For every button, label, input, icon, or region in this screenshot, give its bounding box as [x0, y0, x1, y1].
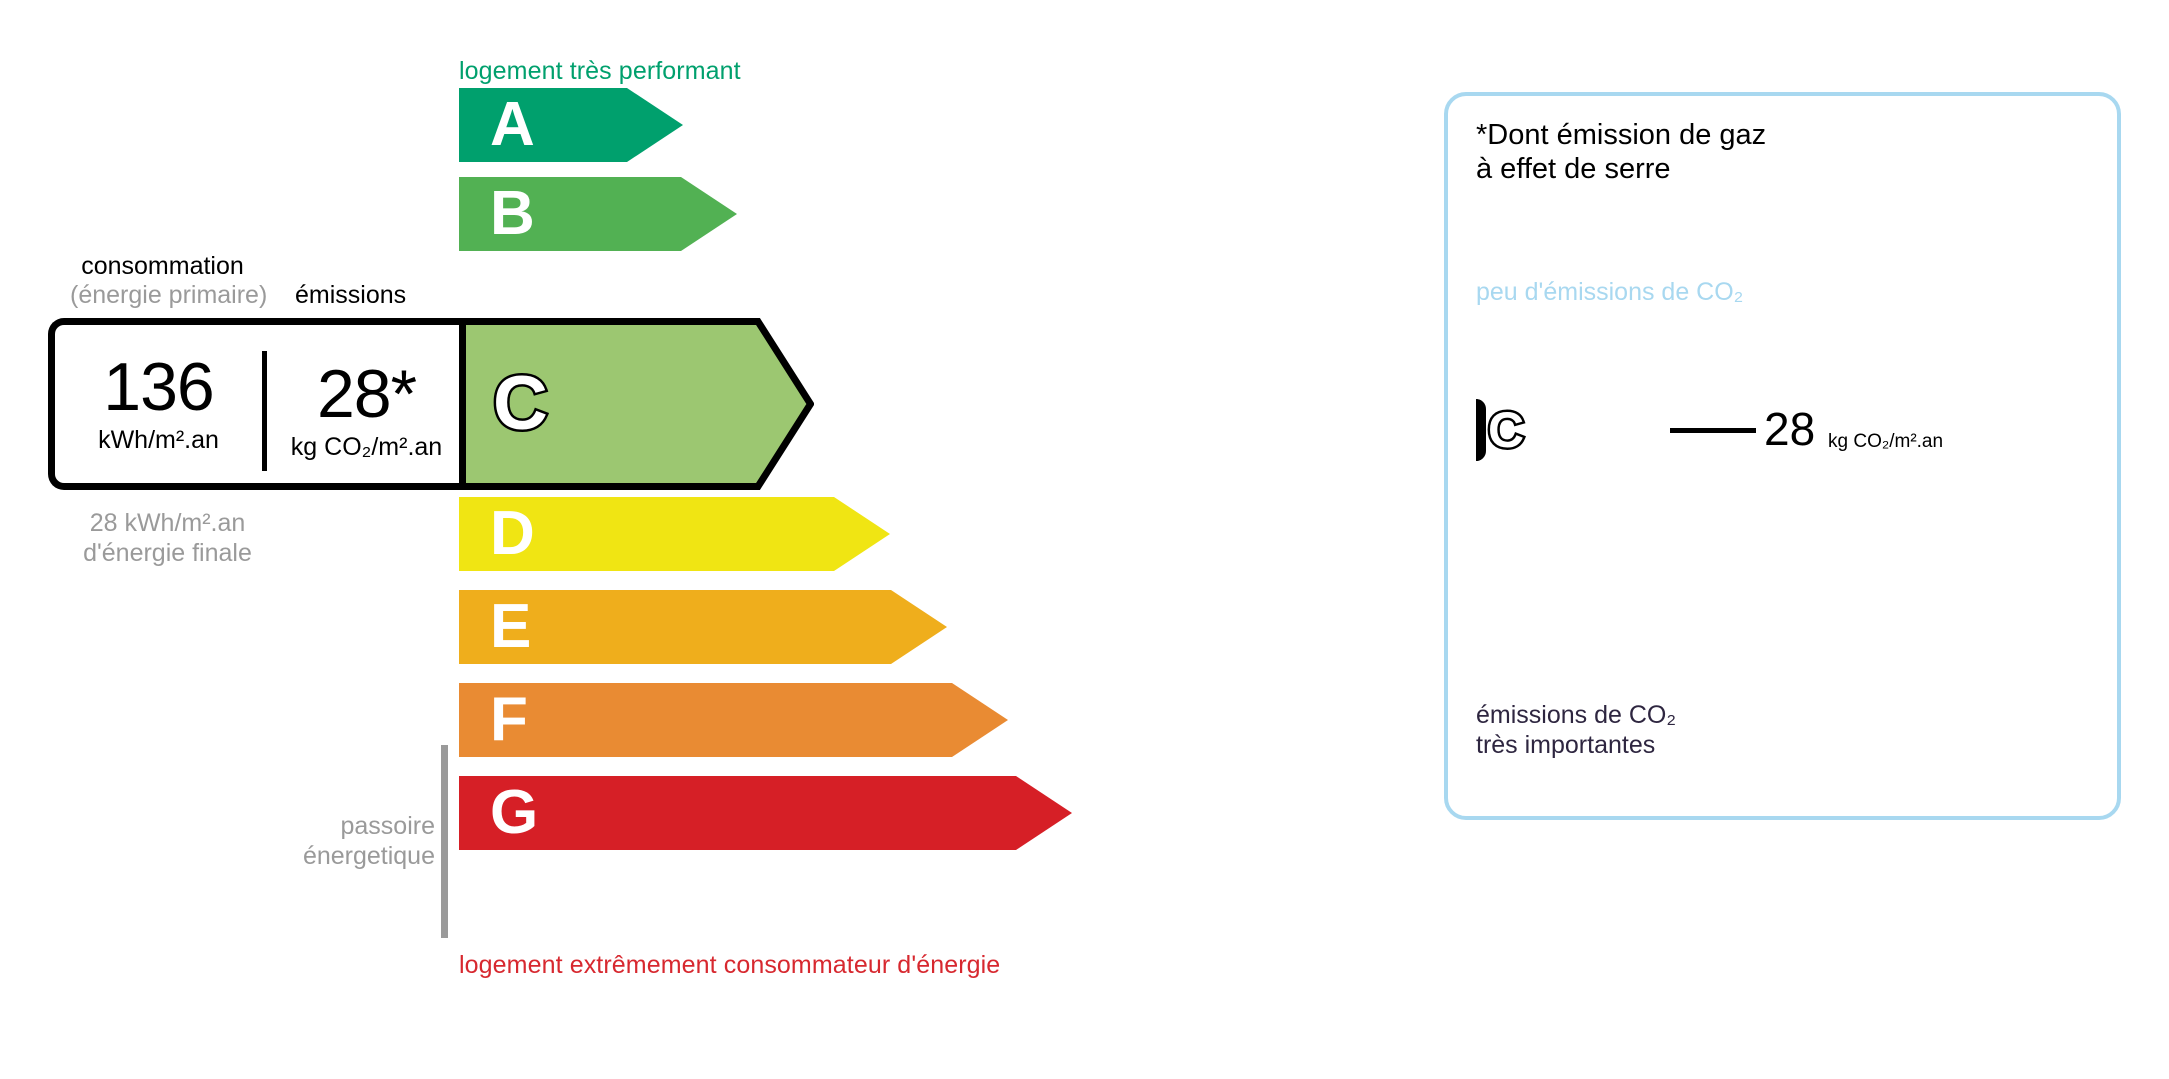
co2-bar-g: G — [1476, 617, 1812, 652]
co2-callout-unit: kg CO₂/m².an — [1828, 432, 1943, 451]
co2-bar-d: D — [1476, 473, 1695, 508]
co2-callout-line — [1670, 428, 1756, 433]
co2-panel-title-line1: *Dont émission de gaz — [1476, 119, 1766, 151]
energy-performance-scale: logement très performant ABCDEFG logemen… — [0, 0, 1400, 1079]
co2-bar-a: A — [1476, 307, 1583, 342]
co2-bar-letter-e: E — [1485, 524, 1505, 554]
energy-bar-g: G — [459, 776, 1072, 850]
energy-bar-shape-g — [459, 776, 1072, 850]
co2-value-cell: 28* kg CO₂/m².an — [262, 351, 466, 471]
energy-unit: kWh/m².an — [98, 426, 219, 455]
scale-caption-top: logement très performant — [459, 57, 741, 86]
passoire-bracket — [441, 745, 448, 938]
energy-bar-shape-f — [459, 683, 1008, 757]
passoire-energetique-label: passoire énergetique — [245, 811, 435, 871]
co2-bar-letter-g: G — [1485, 620, 1508, 650]
energy-bar-e: E — [459, 590, 947, 664]
co2-bar-shape-c — [1476, 399, 1486, 461]
co2-bar-c: C — [1476, 399, 1656, 461]
co2-bar-letter-f: F — [1485, 572, 1503, 602]
final-energy-note: 28 kWh/m².an d'énergie finale — [70, 508, 265, 568]
co2-panel-title-line2: à effet de serre — [1476, 153, 1671, 185]
energy-bar-shape-e — [459, 590, 947, 664]
co2-caption-top: peu d'émissions de CO₂ — [1476, 278, 1743, 307]
co2-value: 28* — [317, 360, 416, 429]
consumption-header-main: consommation — [81, 252, 244, 280]
co2-bar-letter-d: D — [1485, 476, 1507, 506]
energy-value: 136 — [103, 353, 213, 422]
energy-value-cell: 136 kWh/m².an — [55, 325, 262, 483]
passoire-label-line1: passoire — [341, 812, 436, 840]
co2-caption-bottom: émissions de CO₂ très importantes — [1476, 700, 1676, 760]
co2-caption-bottom-line1: émissions de CO₂ — [1476, 701, 1676, 729]
selected-value-frame: 136 kWh/m².an 28* kg CO₂/m².an — [48, 318, 459, 490]
energy-bar-f: F — [459, 683, 1008, 757]
final-energy-note-line2: d'énergie finale — [83, 539, 252, 567]
co2-bar-f: F — [1476, 569, 1773, 604]
co2-panel-title: *Dont émission de gaz à effet de serre — [1476, 118, 1766, 186]
co2-bar-letter-a: A — [1485, 310, 1507, 340]
energy-bar-shape-d — [459, 497, 890, 571]
passoire-label-line2: énergetique — [303, 842, 435, 870]
energy-bar-shape-b — [459, 177, 737, 251]
co2-bar-letter-c: C — [1488, 405, 1524, 455]
final-energy-note-line1: 28 kWh/m².an — [90, 509, 246, 537]
energy-bar-d: D — [459, 497, 890, 571]
energy-bar-a: A — [459, 88, 683, 162]
dpe-diagram: logement très performant ABCDEFG logemen… — [0, 0, 2169, 1079]
scale-caption-bottom: logement extrêmement consommateur d'éner… — [459, 951, 1000, 980]
energy-bar-shape-c — [459, 318, 814, 490]
co2-caption-bottom-line2: très importantes — [1476, 731, 1655, 759]
co2-bar-letter-b: B — [1485, 358, 1507, 388]
co2-bar-b: B — [1476, 355, 1622, 390]
consumption-header-sub: (énergie primaire) — [70, 281, 255, 310]
energy-bar-shape-a — [459, 88, 683, 162]
co2-emissions-panel: *Dont émission de gaz à effet de serre p… — [1444, 92, 2121, 820]
emissions-header: émissions — [295, 281, 406, 310]
co2-unit: kg CO₂/m².an — [291, 433, 442, 462]
co2-callout-value: 28 — [1764, 406, 1815, 452]
energy-bar-c: C — [459, 318, 814, 490]
co2-bar-e: E — [1476, 521, 1734, 556]
consumption-header: consommation (énergie primaire) — [70, 252, 255, 310]
energy-bar-b: B — [459, 177, 737, 251]
